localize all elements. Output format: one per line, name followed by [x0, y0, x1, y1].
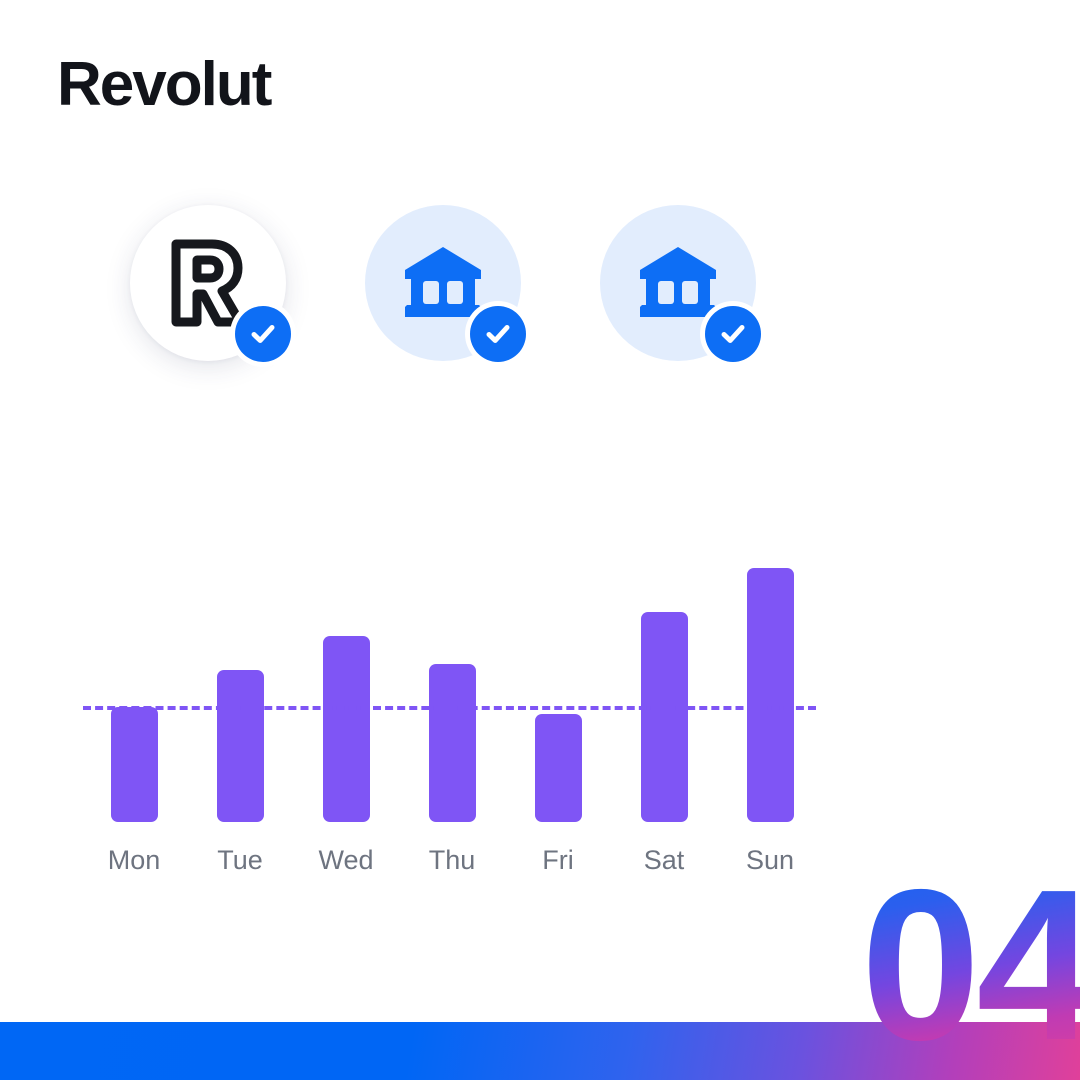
average-reference-line — [83, 706, 816, 710]
x-label-wed: Wed — [301, 843, 391, 877]
bar-thu[interactable] — [429, 664, 476, 822]
account-card-revolut[interactable] — [130, 205, 286, 361]
bank-icon — [638, 245, 718, 321]
verified-badge-bank-2 — [700, 301, 766, 367]
bar-sat[interactable] — [641, 612, 688, 822]
linked-accounts-row — [130, 205, 830, 395]
chart-x-axis-labels: MonTueWedThuFriSatSun — [90, 843, 840, 879]
bar-column-sun[interactable] — [747, 550, 794, 822]
x-label-mon: Mon — [89, 843, 179, 877]
bar-column-wed[interactable] — [323, 550, 370, 822]
bar-column-thu[interactable] — [429, 550, 476, 822]
account-card-bank-2[interactable] — [600, 205, 756, 361]
bar-fri[interactable] — [535, 714, 582, 822]
verified-badge-bank-1 — [465, 301, 531, 367]
bar-tue[interactable] — [217, 670, 264, 822]
bar-column-mon[interactable] — [111, 550, 158, 822]
bar-sun[interactable] — [747, 568, 794, 822]
bar-mon[interactable] — [111, 707, 158, 822]
bar-column-fri[interactable] — [535, 550, 582, 822]
chart-plot-area — [111, 550, 821, 822]
account-card-bank-1[interactable] — [365, 205, 521, 361]
brand-wordmark: Revolut — [57, 54, 270, 116]
bar-column-sat[interactable] — [641, 550, 688, 822]
x-label-sat: Sat — [619, 843, 709, 877]
verified-badge-revolut — [230, 301, 296, 367]
x-label-thu: Thu — [407, 843, 497, 877]
check-icon — [482, 318, 514, 350]
check-icon — [247, 318, 279, 350]
slide-number: 04 — [861, 857, 1080, 1072]
poster-canvas: Revolut — [0, 0, 1080, 1080]
x-label-tue: Tue — [195, 843, 285, 877]
x-label-fri: Fri — [513, 843, 603, 877]
bar-column-tue[interactable] — [217, 550, 264, 822]
bank-icon — [403, 245, 483, 321]
check-icon — [717, 318, 749, 350]
bar-wed[interactable] — [323, 636, 370, 822]
x-label-sun: Sun — [725, 843, 815, 877]
